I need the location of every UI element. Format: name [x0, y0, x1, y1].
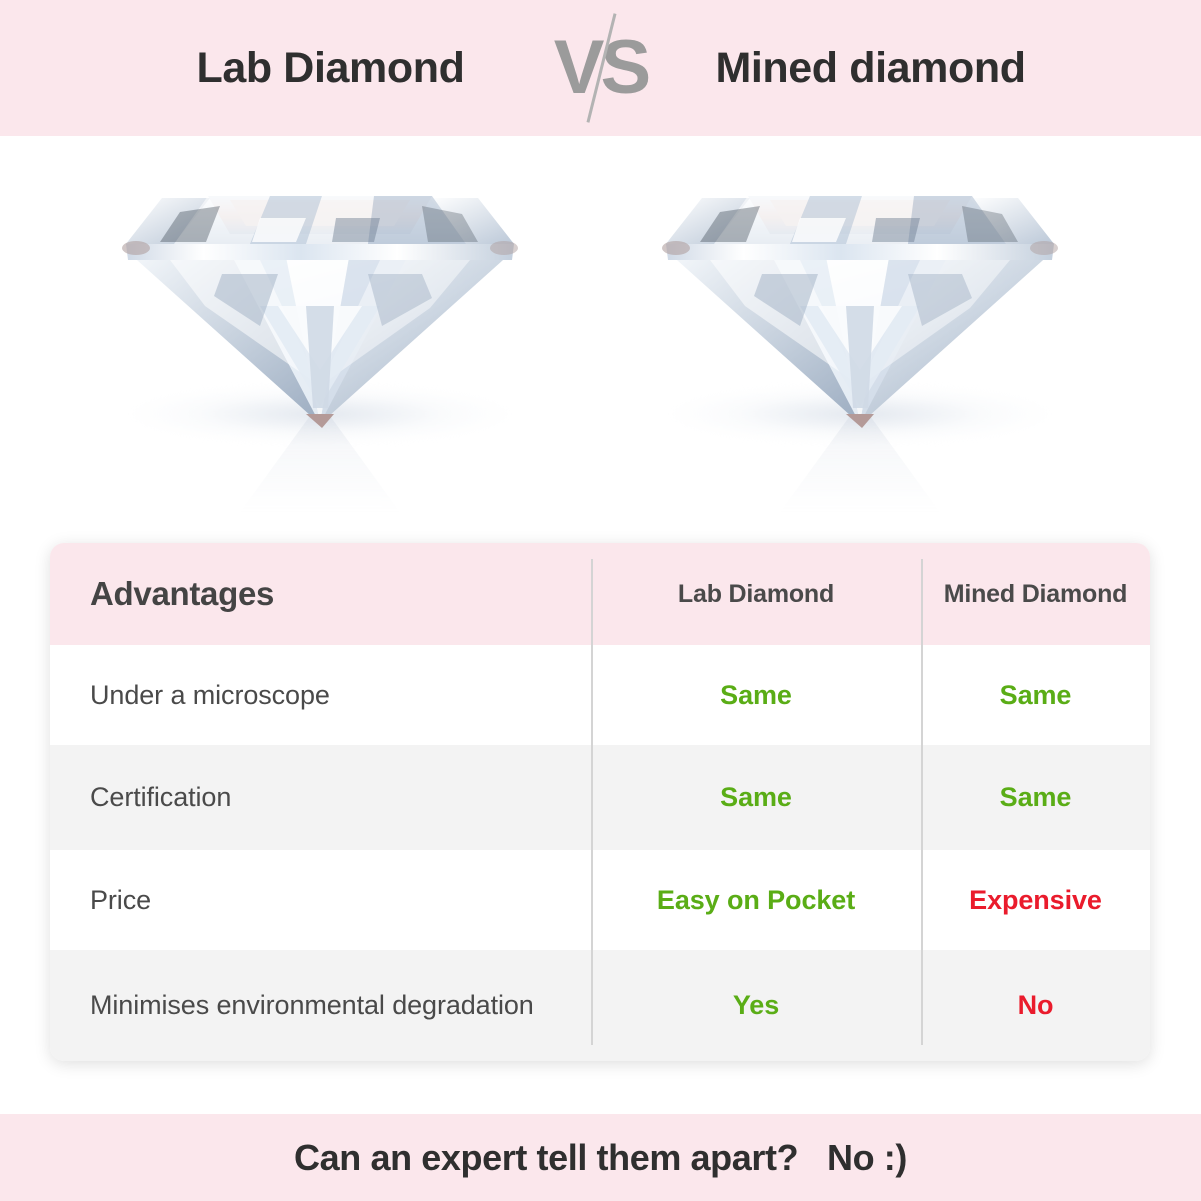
page-header: Lab Diamond VS Mined diamond — [0, 0, 1201, 136]
table-row: Under a microscope Same Same — [50, 645, 1150, 745]
header-title-mined: Mined diamond — [656, 44, 1086, 93]
versus-icon: VS — [546, 8, 656, 128]
row-mined-value: Same — [921, 745, 1150, 850]
row-feature-label: Under a microscope — [90, 645, 560, 745]
header-title-lab: Lab Diamond — [116, 44, 546, 93]
row-mined-value: No — [921, 950, 1150, 1061]
hero-images — [0, 136, 1201, 536]
column-header-mined-diamond: Mined Diamond — [921, 543, 1150, 645]
row-feature-label: Minimises environmental degradation — [90, 950, 560, 1061]
column-header-lab-diamond-label: Lab Diamond — [678, 580, 834, 609]
column-divider — [591, 559, 593, 1045]
column-header-mined-diamond-label: Mined Diamond — [944, 580, 1128, 609]
table-header-row: Advantages Lab Diamond Mined Diamond — [50, 543, 1150, 645]
column-header-lab-diamond: Lab Diamond — [591, 543, 921, 645]
column-header-advantages-label: Advantages — [90, 575, 274, 613]
column-divider — [921, 559, 923, 1045]
column-header-advantages: Advantages — [90, 543, 550, 645]
row-feature-label: Certification — [90, 745, 560, 850]
row-lab-value: Easy on Pocket — [591, 850, 921, 950]
row-lab-value: Yes — [591, 950, 921, 1061]
row-feature-label: Price — [90, 850, 560, 950]
row-mined-value: Same — [921, 645, 1150, 745]
page-footer: Can an expert tell them apart? No :) — [0, 1114, 1201, 1201]
row-mined-value: Expensive — [921, 850, 1150, 950]
footer-question: Can an expert tell them apart? No :) — [294, 1137, 907, 1179]
comparison-table: Advantages Lab Diamond Mined Diamond Und… — [50, 543, 1150, 1061]
table-row: Minimises environmental degradation Yes … — [50, 950, 1150, 1061]
lab-diamond-image — [110, 136, 530, 536]
row-lab-value: Same — [591, 645, 921, 745]
mined-diamond-image — [650, 136, 1070, 536]
diamond-icon — [110, 156, 530, 456]
table-row: Price Easy on Pocket Expensive — [50, 850, 1150, 950]
row-lab-value: Same — [591, 745, 921, 850]
table-row: Certification Same Same — [50, 745, 1150, 850]
diamond-icon — [650, 156, 1070, 456]
